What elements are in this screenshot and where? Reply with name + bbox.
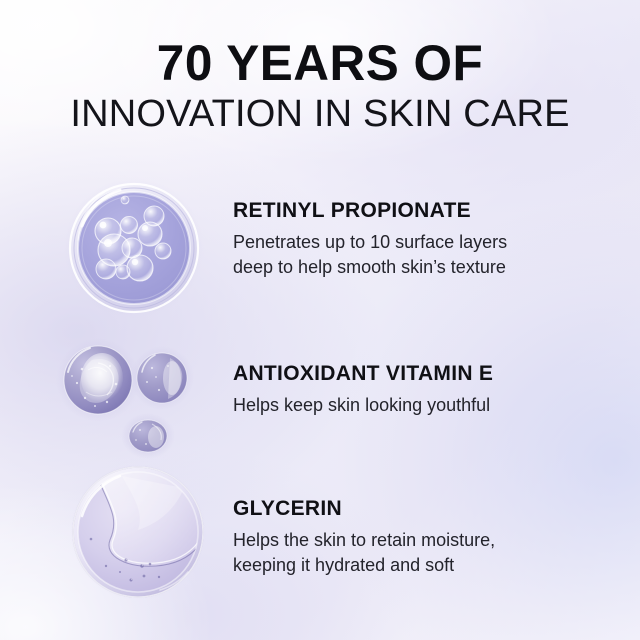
benefit-description: Helps the skin to retain moisture, keepi… xyxy=(233,528,563,578)
benefit-row-antioxidant-vitamin-e: ANTIOXIDANT VITAMIN E Helps keep skin lo… xyxy=(0,338,640,458)
benefit-title: GLYCERIN xyxy=(233,496,563,521)
benefit-row-retinyl-propionate: RETINYL PROPIONATE Penetrates up to 10 s… xyxy=(0,178,640,318)
benefit-text-retinyl-propionate: RETINYL PROPIONATE Penetrates up to 10 s… xyxy=(233,198,563,280)
infographic-canvas: 70 YEARS OF INNOVATION IN SKIN CARE xyxy=(0,0,640,640)
headline-block: 70 YEARS OF INNOVATION IN SKIN CARE xyxy=(0,36,640,136)
page-subtitle: INNOVATION IN SKIN CARE xyxy=(0,92,640,136)
benefit-description: Penetrates up to 10 surface layers deep … xyxy=(233,230,563,280)
page-title: 70 YEARS OF xyxy=(3,36,637,90)
petri-dish-gel-swirl-image xyxy=(64,464,214,604)
benefit-row-glycerin: GLYCERIN Helps the skin to retain moistu… xyxy=(0,466,640,606)
benefit-title: ANTIOXIDANT VITAMIN E xyxy=(233,361,563,386)
benefit-text-glycerin: GLYCERIN Helps the skin to retain moistu… xyxy=(233,496,563,578)
benefit-title: RETINYL PROPIONATE xyxy=(233,198,563,223)
gel-droplets-image xyxy=(52,336,217,461)
petri-dish-bubbles-image xyxy=(62,174,212,324)
benefit-description: Helps keep skin looking youthful xyxy=(233,393,563,418)
benefit-text-antioxidant-vitamin-e: ANTIOXIDANT VITAMIN E Helps keep skin lo… xyxy=(233,361,563,418)
